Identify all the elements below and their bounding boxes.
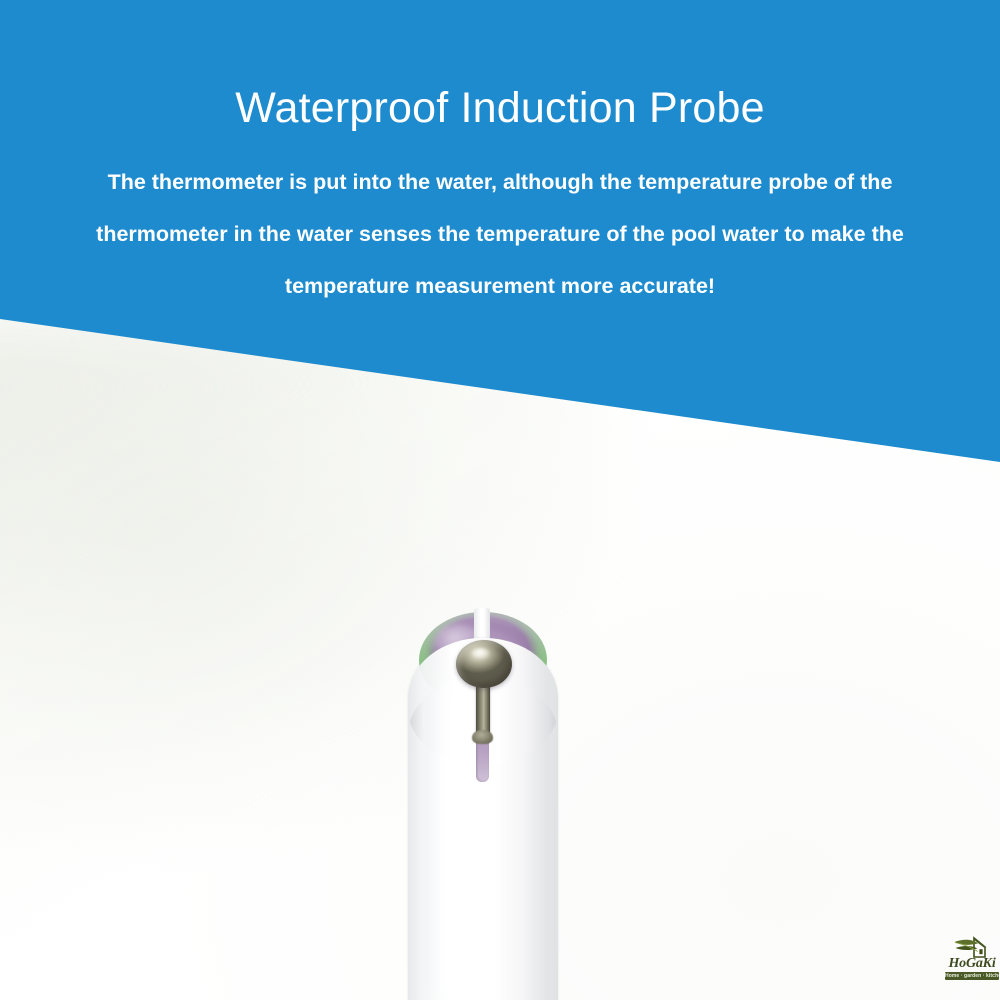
banner-description-line-3: temperature measurement more accurate! <box>34 260 966 312</box>
banner-description: The thermometer is put into the water, a… <box>34 156 966 312</box>
house-leaf-icon <box>953 936 991 958</box>
brand-logo: HoGaKi Home · garden · kitchen <box>944 936 1000 988</box>
sensor-ball-specular-highlight <box>472 648 490 659</box>
product-feature-image: Waterproof Induction Probe The thermomet… <box>0 0 1000 1000</box>
thermometer-probe-photo <box>408 612 558 1000</box>
brand-tagline: Home · garden · kitchen <box>945 972 999 980</box>
probe-induction-sensor-ball <box>456 640 512 688</box>
banner-description-line-2: thermometer in the water senses the temp… <box>34 208 966 260</box>
probe-body-sheen <box>430 682 476 1000</box>
banner-description-line-1: The thermometer is put into the water, a… <box>34 156 966 208</box>
probe-sensor-stem-foot <box>472 730 493 744</box>
banner-title: Waterproof Induction Probe <box>0 86 1000 131</box>
brand-wordmark: HoGaKi <box>944 957 1000 971</box>
